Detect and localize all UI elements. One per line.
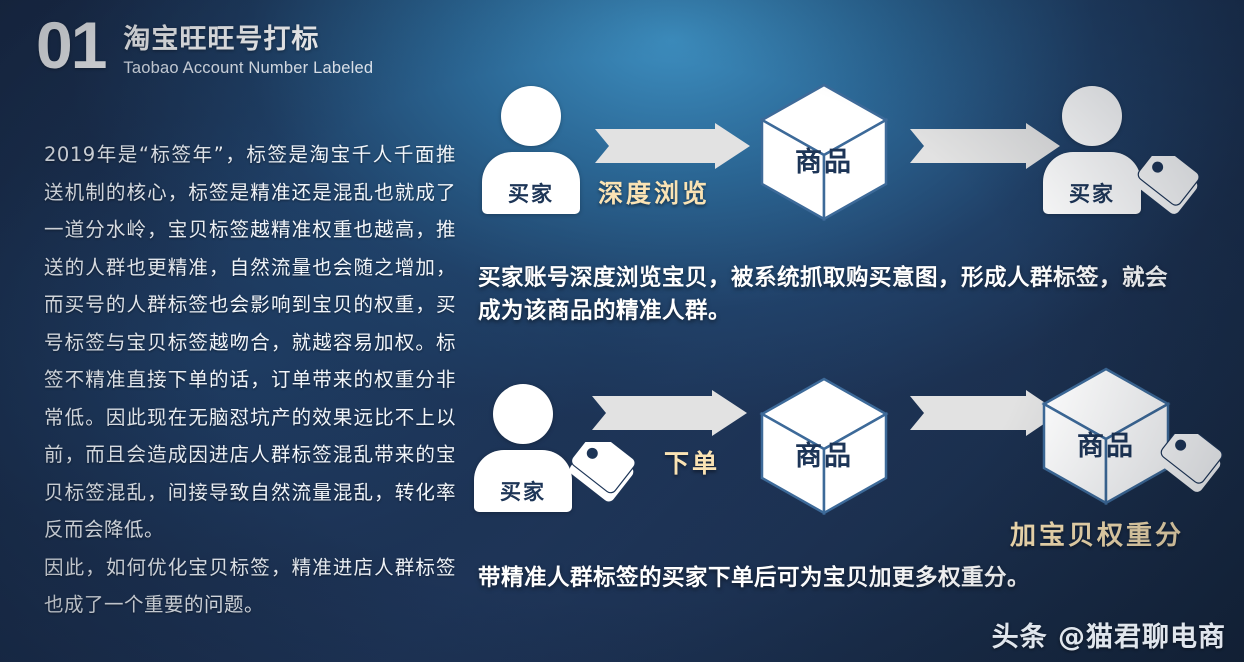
arrow-right-icon-row1-a [595, 123, 750, 169]
slide-canvas: 01 淘宝旺旺号打标 Taobao Account Number Labeled… [0, 0, 1244, 662]
product-box-icon-row1: 商品 [758, 82, 890, 222]
caption-1: 买家账号深度浏览宝贝，被系统抓取购买意图，形成人群标签，就会成为该商品的精准人群… [478, 262, 1178, 328]
body-paragraph-2: 因此，如何优化宝贝标签，精准进店人群标签也成了一个重要的问题。 [44, 549, 456, 624]
bonus-label-row2: 加宝贝权重分 [1010, 515, 1184, 552]
price-tag-icon-row1 [1135, 156, 1207, 222]
product-box-icon-row2-end: 商品 [1040, 366, 1172, 506]
section-number: 01 [36, 14, 105, 77]
slide-header: 01 淘宝旺旺号打标 Taobao Account Number Labeled [36, 14, 373, 78]
body-paragraph-1: 2019年是“标签年”，标签是淘宝千人千面推送机制的核心，标签是精准还是混乱也就… [44, 136, 456, 549]
action-label-row2: 下单 [664, 444, 720, 480]
buyer-label: 买家 [474, 476, 572, 506]
price-tag-icon-row2-end [1158, 434, 1230, 500]
arrow-right-icon-row1-b [910, 123, 1060, 169]
arrow-right-icon-row2-a [592, 390, 747, 436]
buyer-icon-start-row1: 买家 [482, 86, 580, 214]
price-tag-icon-row2-start [567, 442, 645, 514]
body-copy: 2019年是“标签年”，标签是淘宝千人千面推送机制的核心，标签是精准还是混乱也就… [44, 136, 456, 624]
page-subtitle: Taobao Account Number Labeled [123, 59, 373, 78]
product-label: 商品 [1040, 424, 1172, 463]
buyer-label: 买家 [482, 178, 580, 208]
caption-2: 带精准人群标签的买家下单后可为宝贝加更多权重分。 [478, 562, 1218, 595]
buyer-icon-end-row1: 买家 [1043, 86, 1141, 214]
page-title: 淘宝旺旺号打标 [123, 17, 373, 56]
product-label: 商品 [758, 434, 890, 473]
product-label: 商品 [758, 140, 890, 179]
arrow-right-icon-row2-b [910, 390, 1060, 436]
buyer-icon-start-row2: 买家 [474, 384, 572, 512]
person-head-icon [1062, 86, 1122, 146]
person-head-icon [501, 86, 561, 146]
header-text-group: 淘宝旺旺号打标 Taobao Account Number Labeled [123, 14, 373, 78]
product-box-icon-row2-mid: 商品 [758, 376, 890, 516]
diagram-row-1: 买家 深度浏览 商品 买家 [470, 78, 1240, 233]
diagram-row-2: 买家 下单 商品 [470, 372, 1240, 532]
buyer-label: 买家 [1043, 178, 1141, 208]
person-head-icon [493, 384, 553, 444]
action-label-row1: 深度浏览 [598, 174, 710, 210]
watermark: 头条 @猫君聊电商 [992, 615, 1226, 654]
